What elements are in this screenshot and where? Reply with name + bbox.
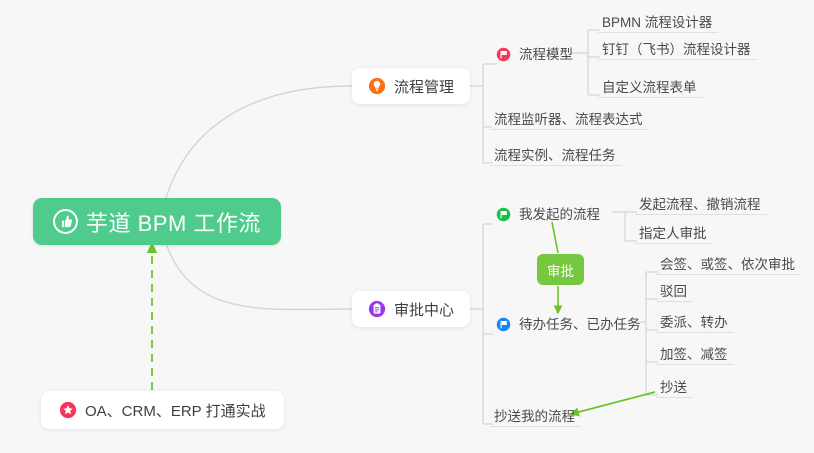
leaf-label-assignee-approval: 指定人审批 [639,227,707,241]
leaf-node-dingtalk-designer[interactable]: 钉钉（飞书）流程设计器 [598,33,757,60]
leaf-node-custom-form[interactable]: 自定义流程表单 [598,71,703,98]
child-node-cc-to-me[interactable]: 抄送我的流程 [490,400,581,427]
leaf-label-bpmn-designer: BPMN 流程设计器 [602,16,712,30]
branch-label-process-management: 流程管理 [394,76,454,97]
leaf-label-reject: 驳回 [660,285,687,299]
star-icon [59,401,77,419]
callout-label-integration: OA、CRM、ERP 打通实战 [85,400,266,421]
annotation-tag-approval: 审批 [537,254,584,285]
clipboard-icon [368,300,386,318]
child-label-listener-expression: 流程监听器、流程表达式 [494,113,643,127]
child-node-todo-done-tasks[interactable]: 待办任务、已办任务 [492,311,647,338]
child-label-cc-to-me: 抄送我的流程 [494,410,575,424]
leaf-label-countersign: 会签、或签、依次审批 [660,258,795,272]
branch-node-approval-center[interactable]: 审批中心 [352,291,470,327]
leaf-label-delegate-transfer: 委派、转办 [660,316,728,330]
leaf-label-add-remove-sign: 加签、减签 [660,348,728,362]
leaf-label-custom-form: 自定义流程表单 [602,81,697,95]
arrow-cc-to-my-cc [571,392,655,414]
annotation-tag-approval-label: 审批 [547,260,574,280]
callout-node-integration[interactable]: OA、CRM、ERP 打通实战 [41,391,284,429]
leaf-node-countersign[interactable]: 会签、或签、依次审批 [656,248,801,275]
child-label-instance-task: 流程实例、流程任务 [494,149,616,163]
leaf-label-cc: 抄送 [660,381,687,395]
leaf-label-start-cancel-process: 发起流程、撤销流程 [639,198,761,212]
lightbulb-icon [368,77,386,95]
mindmap-canvas: 芋道 BPM 工作流 流程管理 流程模型 BPMN 流程设计器 钉钉（飞书）流程 [0,0,814,453]
leaf-node-add-remove-sign[interactable]: 加签、减签 [656,338,734,365]
branch-node-process-management[interactable]: 流程管理 [352,68,470,104]
branch-label-approval-center: 审批中心 [394,299,454,320]
child-node-listener-expression[interactable]: 流程监听器、流程表达式 [490,103,649,130]
leaf-node-delegate-transfer[interactable]: 委派、转办 [656,306,734,333]
leaf-node-bpmn-designer[interactable]: BPMN 流程设计器 [598,6,718,33]
leaf-node-assignee-approval[interactable]: 指定人审批 [635,217,713,244]
child-label-process-model: 流程模型 [519,48,573,62]
root-node[interactable]: 芋道 BPM 工作流 [33,198,281,245]
leaf-label-dingtalk-designer: 钉钉（飞书）流程设计器 [602,43,751,57]
flag-icon [496,317,511,332]
flag-icon [496,207,511,222]
child-label-my-started-processes: 我发起的流程 [519,208,600,222]
child-node-instance-task[interactable]: 流程实例、流程任务 [490,139,622,166]
leaf-node-cc[interactable]: 抄送 [656,371,693,398]
child-node-process-model[interactable]: 流程模型 [492,41,579,68]
root-label: 芋道 BPM 工作流 [86,206,261,238]
leaf-node-start-cancel-process[interactable]: 发起流程、撤销流程 [635,188,767,215]
leaf-node-reject[interactable]: 驳回 [656,275,693,302]
thumbs-up-icon [53,209,78,234]
child-node-my-started-processes[interactable]: 我发起的流程 [492,201,606,228]
flag-icon [496,47,511,62]
child-label-todo-done-tasks: 待办任务、已办任务 [519,318,641,332]
